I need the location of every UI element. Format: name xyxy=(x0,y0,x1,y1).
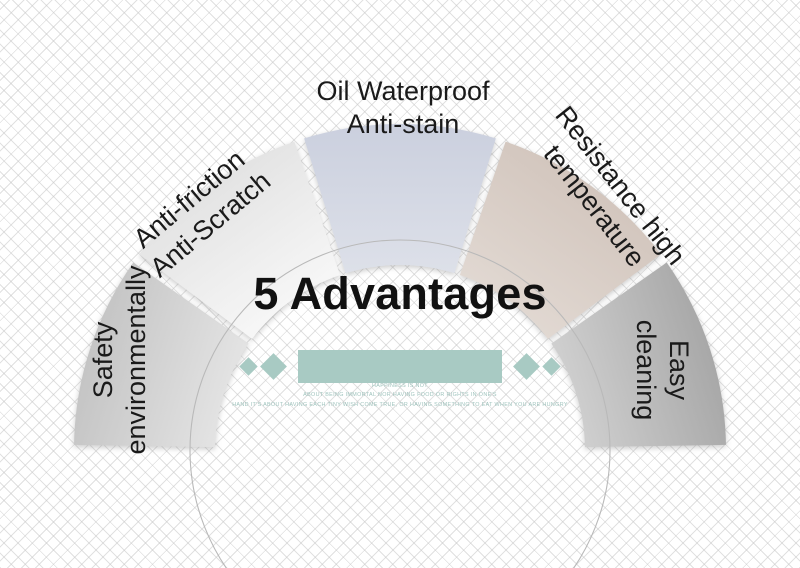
diamond-small-left-icon xyxy=(239,357,257,375)
infographic-canvas: Safety environmentallyAnti-friction Anti… xyxy=(0,0,800,568)
decoration-row xyxy=(0,350,800,383)
diamond-medium-right-icon xyxy=(513,353,540,380)
page-title: 5 Advantages xyxy=(0,268,800,320)
tagline-block: HAPPINESS IS NOT ABOUT BEING IMMORTAL NO… xyxy=(0,382,800,410)
accent-bar xyxy=(298,350,502,383)
tagline-line-1: HAPPINESS IS NOT xyxy=(0,382,800,391)
tagline-line-2: ABOUT BEING IMMORTAL NOR HAVING FOOD OR … xyxy=(0,391,800,400)
diamond-small-right-icon xyxy=(542,357,560,375)
tagline-line-3: HAND IT'S ABOUT HAVING EACH TINY WISH CO… xyxy=(0,401,800,410)
diamond-medium-left-icon xyxy=(260,353,287,380)
